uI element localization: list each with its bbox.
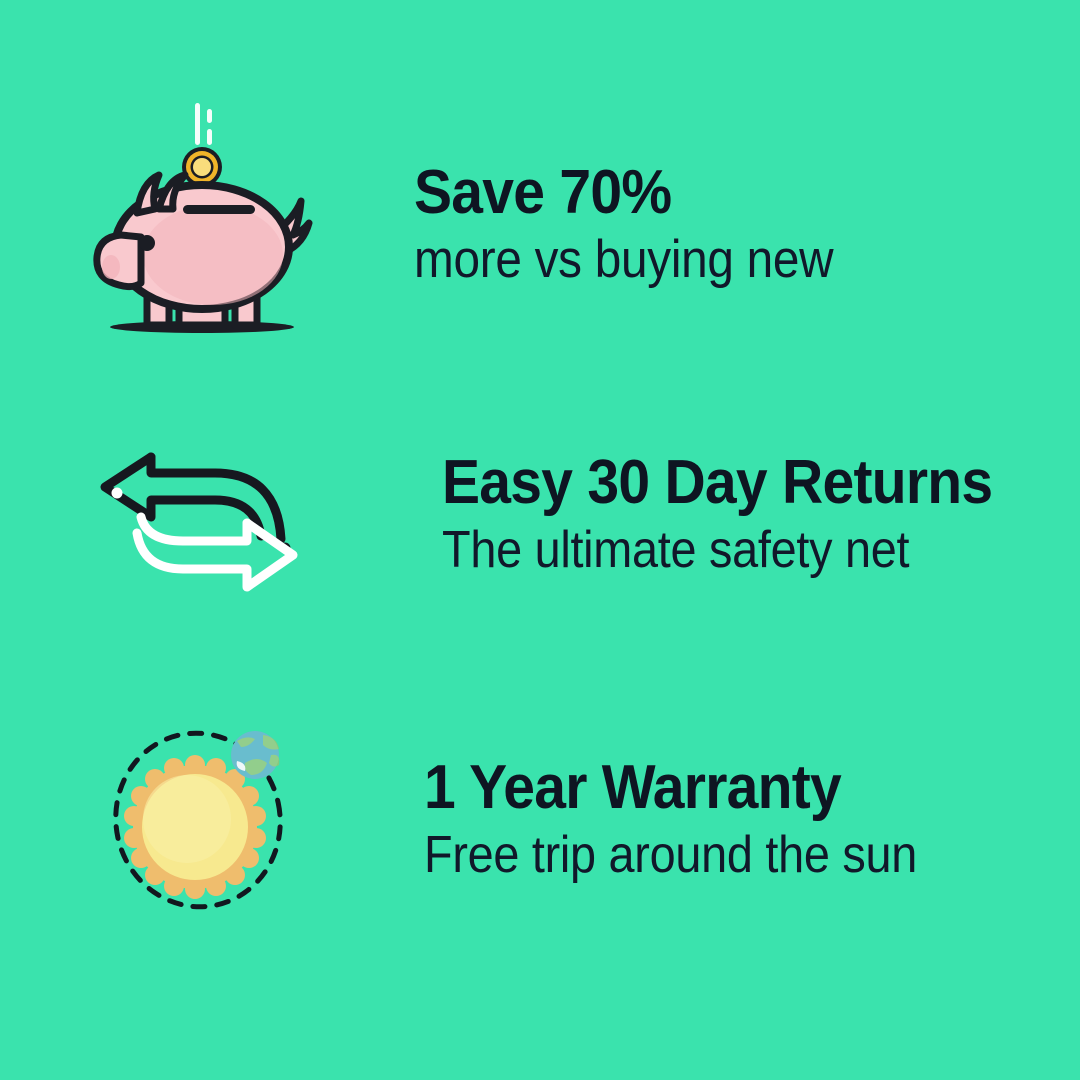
coin-motion-dot xyxy=(207,109,212,123)
sun-core-highlight xyxy=(143,775,231,863)
feature-subtitle-returns: The ultimate safety net xyxy=(442,521,909,579)
feature-subtitle-warranty: Free trip around the sun xyxy=(424,826,917,884)
piggy-bank-icon xyxy=(85,95,315,355)
pig-snout-shade xyxy=(102,255,120,279)
feature-text-warranty: 1 Year Warranty Free trip around the sun xyxy=(400,670,1080,970)
feature-title-returns: Easy 30 Day Returns xyxy=(442,451,992,514)
coin-motion-line-left xyxy=(195,103,200,145)
feature-row-warranty: 1 Year Warranty Free trip around the sun xyxy=(0,670,1080,970)
feature-text-save: Save 70% more vs buying new xyxy=(400,75,1080,375)
pig-ear-front xyxy=(137,175,159,213)
pig-body-shade xyxy=(143,205,283,305)
coin-motion-line-right xyxy=(207,129,212,145)
feature-row-returns: Easy 30 Day Returns The ultimate safety … xyxy=(0,365,1080,665)
feature-text-returns: Easy 30 Day Returns The ultimate safety … xyxy=(400,365,1080,665)
pig-coin-slot xyxy=(183,205,255,214)
feature-title-save: Save 70% xyxy=(414,161,671,224)
feature-row-save: Save 70% more vs buying new xyxy=(0,75,1080,375)
sun-orbit-icon-cell xyxy=(0,670,400,970)
feature-title-warranty: 1 Year Warranty xyxy=(424,756,841,819)
earth-icon xyxy=(231,731,279,779)
sun-orbit-icon xyxy=(95,715,305,925)
return-arrow-white xyxy=(137,517,293,587)
feature-subtitle-save: more vs buying new xyxy=(414,230,833,289)
return-arrow-white-end-dot xyxy=(112,488,123,499)
return-arrows-icon-cell xyxy=(0,365,400,665)
piggy-bank-icon-cell xyxy=(0,75,400,375)
return-arrows-icon xyxy=(95,415,305,615)
pig-eye xyxy=(139,235,155,251)
benefits-panel: Save 70% more vs buying new xyxy=(0,0,1080,1080)
